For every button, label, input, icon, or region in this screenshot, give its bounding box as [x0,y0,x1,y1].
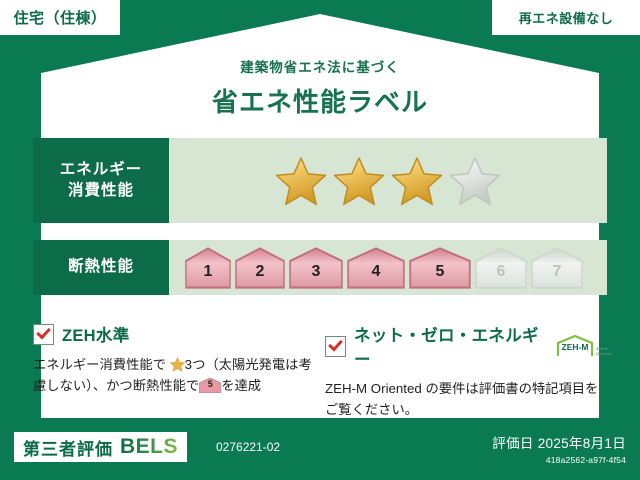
insulation-level-box: 3 [289,247,343,289]
energy-performance-header: エネルギー 消費性能 [33,138,169,223]
document-hash: 418a2562-a97f-4f54 [492,455,626,465]
zeh-standard-heading: ZEH水準 [33,322,325,346]
evaluation-date-value: 2025年8月1日 [538,436,626,451]
energy-star-rating [169,138,607,223]
zeh-m-sub-line1: ZEH-M [596,347,607,351]
zeh-standard-title: ZEH水準 [62,322,130,346]
building-type-tag: 住宅（住棟） [0,0,120,35]
insulation-level-value: 3 [312,264,321,289]
bels-chip: 第三者評価 BELS [14,432,187,462]
insulation-level-box: 5 [409,247,471,289]
inline-level-badge-value: 5 [199,378,221,392]
insulation-performance-header: 断熱性能 [33,240,169,295]
evaluation-info: 評価日 2025年8月1日 418a2562-a97f-4f54 [492,432,626,465]
insulation-level-value: 1 [204,264,213,289]
energy-performance-header-line1: エネルギー [60,160,143,181]
label-title: 省エネ性能ラベル [0,82,640,119]
insulation-level-box: 1 [185,247,231,289]
check-icon [33,324,54,345]
insulation-level-value: 4 [372,264,381,289]
notes-area: ZEH水準 エネルギー消費性能で 3つ（太陽光発電は考慮しない）、かつ断熱性能で… [33,322,611,420]
check-icon [325,336,346,357]
insulation-performance-row: 断熱性能 1234567 [33,240,607,295]
building-type-tag-label: 住宅（住棟） [13,7,106,28]
insulation-level-box: 7 [531,247,583,289]
net-zero-energy-note: ネット・ゼロ・エネルギー ZEH-M ZEH-M Oriented ZEH-M … [325,322,611,420]
evaluation-date-label: 評価日 [492,436,533,451]
zeh-m-logo-icon: ZEH-M ZEH-M Oriented [555,334,611,358]
insulation-level-box: 2 [235,247,285,289]
zeh-text-part1: エネルギー消費性能で [33,357,166,372]
star-icon-empty [448,155,502,207]
insulation-level-box: 4 [347,247,405,289]
zeh-standard-text: エネルギー消費性能で 3つ（太陽光発電は考慮しない）、かつ断熱性能で 5 を達成 [33,355,325,396]
star-icon-filled [332,155,386,207]
evaluation-date: 評価日 2025年8月1日 [492,432,626,452]
energy-label-card: 住宅（住棟） 再エネ設備なし 建築物省エネ法に基づく 省エネ性能ラベル エネルギ… [0,0,640,480]
insulation-level-value: 7 [553,264,562,289]
insulation-level-scale: 1234567 [169,240,607,295]
energy-performance-header-line2: 消費性能 [68,181,134,202]
renewable-equipment-tag: 再エネ設備なし [492,0,640,35]
zeh-m-sub-line2: Oriented [596,352,611,356]
net-zero-energy-title: ネット・ゼロ・エネルギー [354,322,543,370]
star-icon-filled [274,155,328,207]
insulation-level-box: 6 [475,247,527,289]
inline-level-badge: 5 [199,378,221,393]
renewable-equipment-tag-label: 再エネ設備なし [519,8,614,27]
zeh-m-logo-subtext: ZEH-M Oriented [596,347,611,358]
insulation-performance-header-line1: 断熱性能 [68,257,134,278]
energy-performance-row: エネルギー 消費性能 [33,138,607,223]
label-title-block: 建築物省エネ法に基づく 省エネ性能ラベル [0,56,640,119]
insulation-level-value: 5 [436,264,445,289]
insulation-level-value: 6 [497,264,506,289]
bels-number: 0276221-02 [216,440,280,454]
bels-en-label: BELS [120,435,178,459]
footer-bar: 第三者評価 BELS 0276221-02 評価日 2025年8月1日 418a… [0,424,640,480]
insulation-level-value: 2 [256,264,265,289]
zeh-standard-note: ZEH水準 エネルギー消費性能で 3つ（太陽光発電は考慮しない）、かつ断熱性能で… [33,322,325,420]
net-zero-energy-heading: ネット・ゼロ・エネルギー ZEH-M ZEH-M Oriented [325,322,611,370]
bels-jp-label: 第三者評価 [23,435,113,460]
label-subtitle: 建築物省エネ法に基づく [0,56,640,76]
zeh-text-part3: を達成 [221,378,261,393]
net-zero-energy-text: ZEH-M Oriented の要件は評価書の特記項目をご覧ください。 [325,379,611,420]
star-icon-filled [390,155,444,207]
inline-star-icon [170,357,185,372]
svg-text:ZEH-M: ZEH-M [562,342,589,352]
